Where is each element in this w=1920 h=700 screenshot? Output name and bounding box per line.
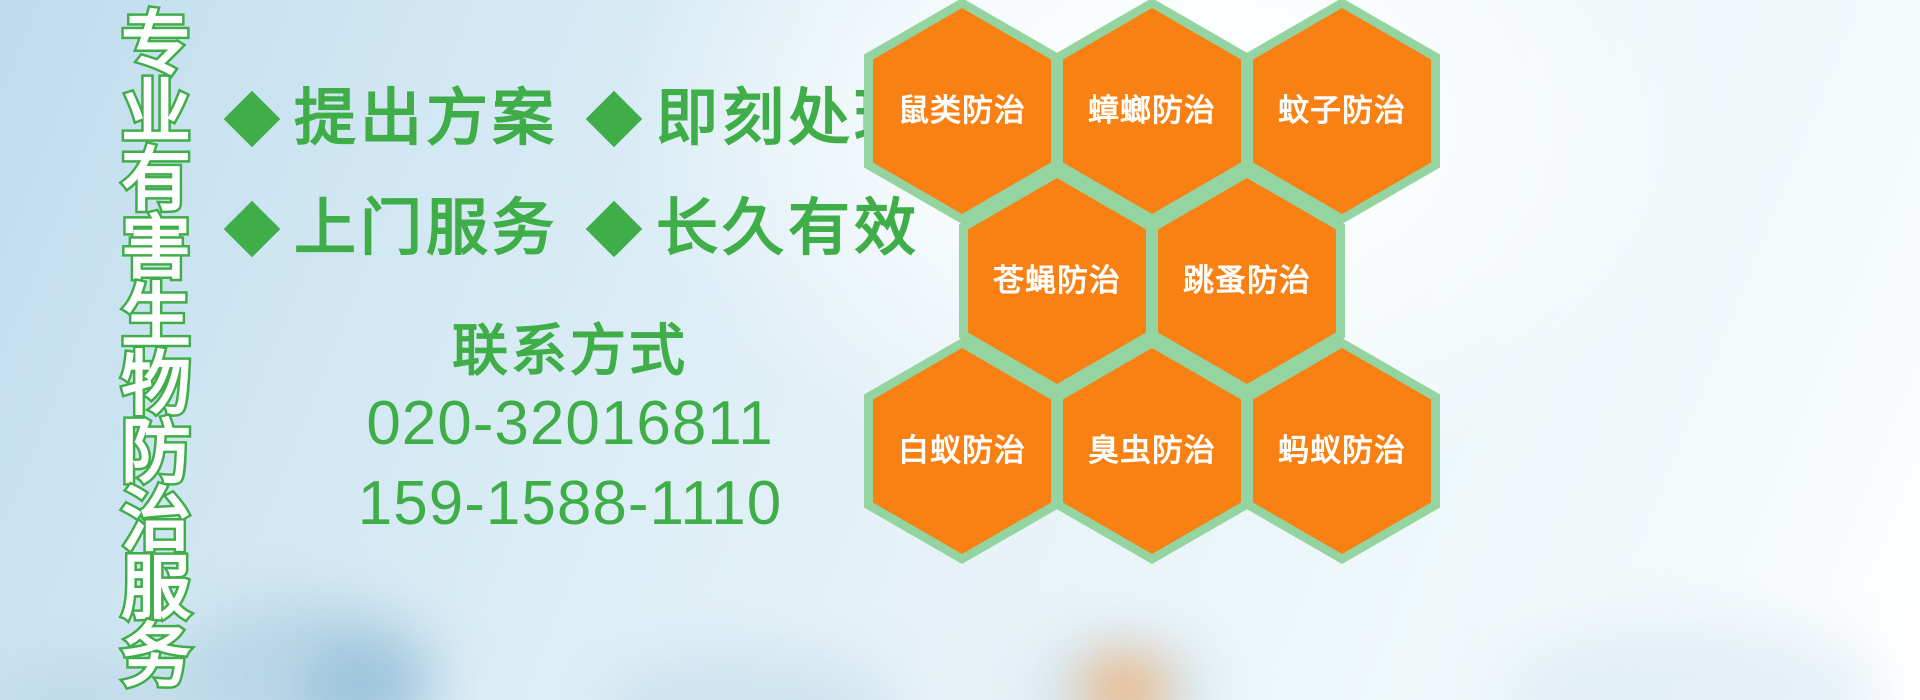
feature-item-propose-plan: 提出方案	[232, 88, 558, 150]
service-label: 蚂蚁防治	[1244, 434, 1440, 468]
background-bokeh-blob	[180, 600, 440, 700]
vertical-headline-char: 物	[108, 350, 204, 418]
phone-landline[interactable]: 020-32016811	[300, 384, 840, 464]
service-label: 臭虫防治	[1054, 434, 1250, 468]
vertical-headline-char: 治	[108, 486, 204, 554]
vertical-headline-char: 害	[108, 214, 204, 282]
vertical-headline-char: 业	[108, 78, 204, 146]
vertical-headline-char: 专	[108, 10, 204, 78]
background-bokeh-blob	[600, 650, 900, 700]
vertical-headline-char: 生	[108, 282, 204, 350]
diamond-bullet-icon	[586, 201, 643, 258]
vertical-headline: 专业有害生物防治服务	[108, 10, 204, 690]
vertical-headline-char: 防	[108, 418, 204, 486]
service-label: 蟑螂防治	[1054, 94, 1250, 128]
service-hex-grid: 鼠类防治 蟑螂防治 蚊子防治 苍蝇防治 跳蚤防治 白蚁防治	[858, 0, 1478, 564]
promo-banner: 专业有害生物防治服务 提出方案 即刻处理 上门服务 长久有效 联系方式 020-…	[0, 0, 1920, 700]
service-label: 蚊子防治	[1244, 94, 1440, 128]
service-hex-ant[interactable]: 蚂蚁防治	[1244, 338, 1440, 564]
diamond-bullet-icon	[224, 201, 281, 258]
service-hex-bedbug[interactable]: 臭虫防治	[1054, 338, 1250, 564]
background-bokeh-blob	[1080, 655, 1170, 700]
feature-row-bottom: 上门服务 长久有效	[232, 198, 920, 260]
feature-label: 提出方案	[294, 88, 558, 150]
vertical-headline-char: 有	[108, 146, 204, 214]
diamond-bullet-icon	[586, 91, 643, 148]
service-label: 跳蚤防治	[1149, 264, 1345, 298]
feature-row-top: 提出方案 即刻处理	[232, 88, 920, 150]
vertical-headline-char: 务	[108, 622, 204, 690]
service-label: 鼠类防治	[864, 94, 1060, 128]
feature-label: 上门服务	[294, 198, 558, 260]
contact-block: 联系方式 020-32016811 159-1588-1110	[300, 318, 840, 544]
feature-item-onsite-service: 上门服务	[232, 198, 558, 260]
contact-title: 联系方式	[300, 318, 840, 384]
service-hex-termite[interactable]: 白蚁防治	[864, 338, 1060, 564]
background-bokeh-blob	[300, 640, 420, 700]
phone-mobile[interactable]: 159-1588-1110	[300, 464, 840, 544]
service-label: 白蚁防治	[864, 434, 1060, 468]
service-label: 苍蝇防治	[959, 264, 1155, 298]
background-bokeh-blob	[1020, 630, 1220, 700]
diamond-bullet-icon	[224, 91, 281, 148]
vertical-headline-char: 服	[108, 554, 204, 622]
background-bokeh-blob	[1500, 620, 1880, 700]
